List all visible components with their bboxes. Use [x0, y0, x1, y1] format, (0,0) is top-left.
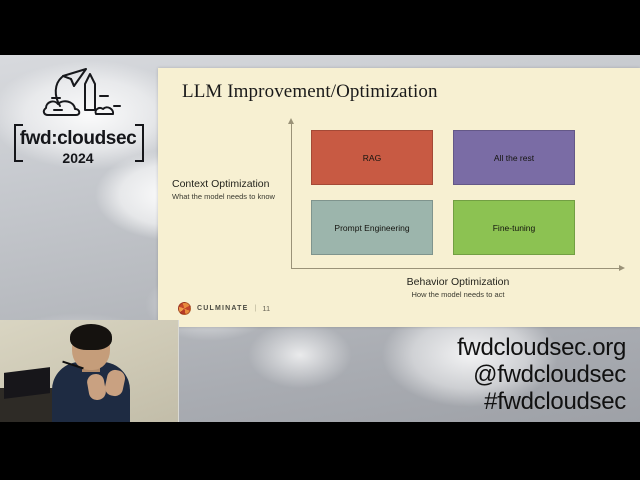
promo-hashtag: #fwdcloudsec: [457, 388, 626, 415]
letterbox-top: [0, 0, 640, 55]
quadrant-box-all-the-rest: All the rest: [453, 130, 575, 185]
promo-website: fwdcloudsec.org: [457, 334, 626, 361]
x-axis-label: Behavior Optimization: [363, 276, 553, 289]
paper-airplane-monument-cloud-icon: [30, 62, 126, 128]
logo-year: 2024: [12, 150, 144, 166]
quadrant-label: Fine-tuning: [493, 223, 536, 233]
slide-page-number: 11: [262, 304, 270, 313]
presentation-stream-frame: fwd:cloudsec 2024 LLM Improvement/Optimi…: [0, 0, 640, 480]
x-axis-sublabel: How the model needs to act: [363, 290, 553, 300]
presentation-slide: LLM Improvement/Optimization RAG All the…: [158, 68, 640, 327]
x-axis-arrow: [291, 268, 620, 269]
letterbox-bottom: [0, 422, 640, 480]
footer-brand-name: CULMINATE: [197, 305, 249, 312]
conference-promo-text: fwdcloudsec.org @fwdcloudsec #fwdcloudse…: [457, 334, 626, 415]
quadrant-label: Prompt Engineering: [334, 223, 409, 233]
footer-separator: |: [255, 305, 257, 312]
logo-wordmark: fwd:cloudsec: [12, 128, 144, 150]
y-axis-sublabel: What the model needs to know: [172, 192, 288, 202]
y-axis-label-group: Context Optimization What the model need…: [172, 178, 288, 202]
slide-title: LLM Improvement/Optimization: [182, 81, 438, 103]
quadrant-label: All the rest: [494, 153, 534, 163]
promo-handle: @fwdcloudsec: [457, 361, 626, 388]
speaker-hair: [70, 324, 112, 350]
conference-logo: fwd:cloudsec 2024: [8, 62, 148, 174]
quadrant-box-prompt-engineering: Prompt Engineering: [311, 200, 433, 255]
quadrant-box-fine-tuning: Fine-tuning: [453, 200, 575, 255]
culminate-logo-icon: [178, 302, 191, 315]
speaker-webcam-feed: [0, 320, 179, 422]
quadrant-box-rag: RAG: [311, 130, 433, 185]
y-axis-label: Context Optimization: [172, 178, 288, 191]
slide-footer: CULMINATE | 11: [178, 302, 270, 315]
x-axis-label-group: Behavior Optimization How the model need…: [363, 276, 553, 300]
y-axis-arrow: [291, 123, 292, 269]
quadrant-label: RAG: [363, 153, 381, 163]
